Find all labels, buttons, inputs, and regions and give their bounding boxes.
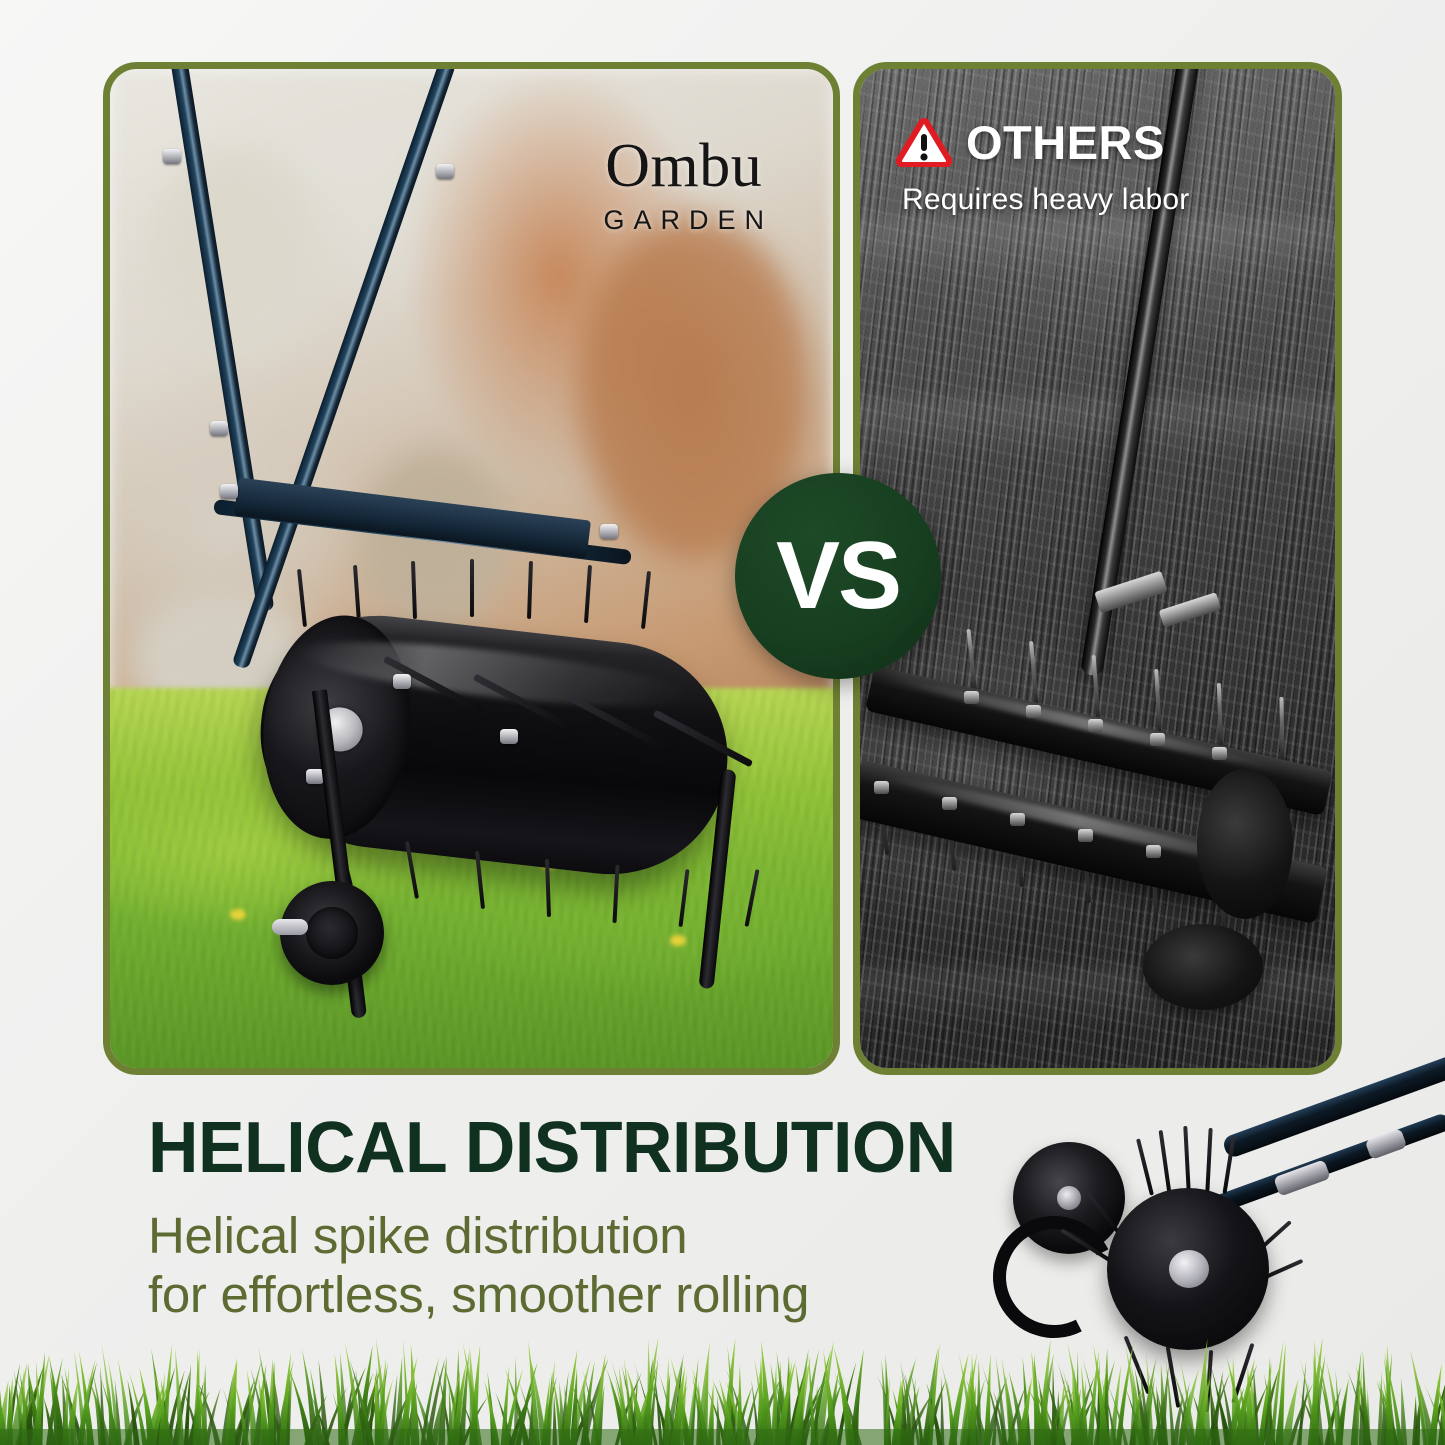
spike-nut bbox=[1088, 719, 1103, 732]
spike bbox=[1205, 1128, 1212, 1192]
bolt bbox=[393, 674, 411, 689]
brand-subtitle: GARDEN bbox=[594, 207, 773, 234]
mow-stripe bbox=[860, 399, 1335, 459]
loose-disc bbox=[1143, 924, 1263, 1010]
aerator-hub bbox=[1107, 1188, 1269, 1350]
spike bbox=[470, 559, 474, 617]
spike-nut bbox=[942, 797, 957, 810]
spike-nut bbox=[874, 781, 889, 794]
vs-badge: VS bbox=[735, 473, 941, 679]
spike-nut bbox=[1212, 747, 1227, 760]
spike bbox=[1183, 1126, 1190, 1192]
brand-name: Ombu bbox=[594, 135, 773, 197]
feature-subline-2: for effortless, smoother rolling bbox=[148, 1265, 981, 1324]
feature-headline: HELICAL DISTRIBUTION bbox=[148, 1112, 956, 1184]
others-subtitle: Requires heavy labor bbox=[902, 183, 1190, 217]
mow-stripe bbox=[860, 969, 1335, 1029]
spike-nut bbox=[1026, 705, 1041, 718]
bolt bbox=[600, 524, 618, 539]
spike-nut bbox=[1078, 829, 1093, 842]
bolt bbox=[436, 164, 454, 179]
brand-logo: Ombu GARDEN bbox=[594, 135, 773, 234]
roller-endcap bbox=[1197, 769, 1293, 919]
spike-nut bbox=[964, 691, 979, 704]
mow-stripe bbox=[860, 219, 1335, 279]
dandelion bbox=[230, 909, 246, 920]
product-infographic: Ombu GARDEN bbox=[0, 0, 1445, 1445]
ombu-product-panel: Ombu GARDEN bbox=[103, 62, 840, 1075]
dandelion bbox=[670, 935, 686, 946]
vs-label: VS bbox=[776, 528, 900, 624]
others-title: OTHERS bbox=[966, 119, 1165, 166]
spike-nut bbox=[1146, 845, 1161, 858]
spike-nut bbox=[1010, 813, 1025, 826]
grass-border bbox=[0, 1333, 1445, 1445]
caption-block: HELICAL DISTRIBUTION Helical spike distr… bbox=[148, 1112, 981, 1324]
bolt bbox=[220, 484, 238, 499]
others-badge: OTHERS Requires heavy labor bbox=[896, 117, 1190, 217]
bolt bbox=[500, 729, 518, 744]
spike-nut bbox=[1150, 733, 1165, 746]
clamp bbox=[1365, 1128, 1408, 1160]
bolt bbox=[210, 421, 228, 436]
spike bbox=[1136, 1138, 1154, 1195]
warning-triangle-icon bbox=[896, 117, 952, 167]
feature-subline: Helical spike distribution for effortles… bbox=[148, 1206, 981, 1324]
background-highlight bbox=[150, 149, 320, 359]
bolt bbox=[163, 149, 181, 164]
others-heading-row: OTHERS bbox=[896, 117, 1190, 167]
grass-blades bbox=[0, 1333, 1445, 1445]
feature-subline-1: Helical spike distribution bbox=[148, 1206, 981, 1265]
spike bbox=[1159, 1130, 1172, 1194]
transport-wheel bbox=[280, 881, 384, 985]
